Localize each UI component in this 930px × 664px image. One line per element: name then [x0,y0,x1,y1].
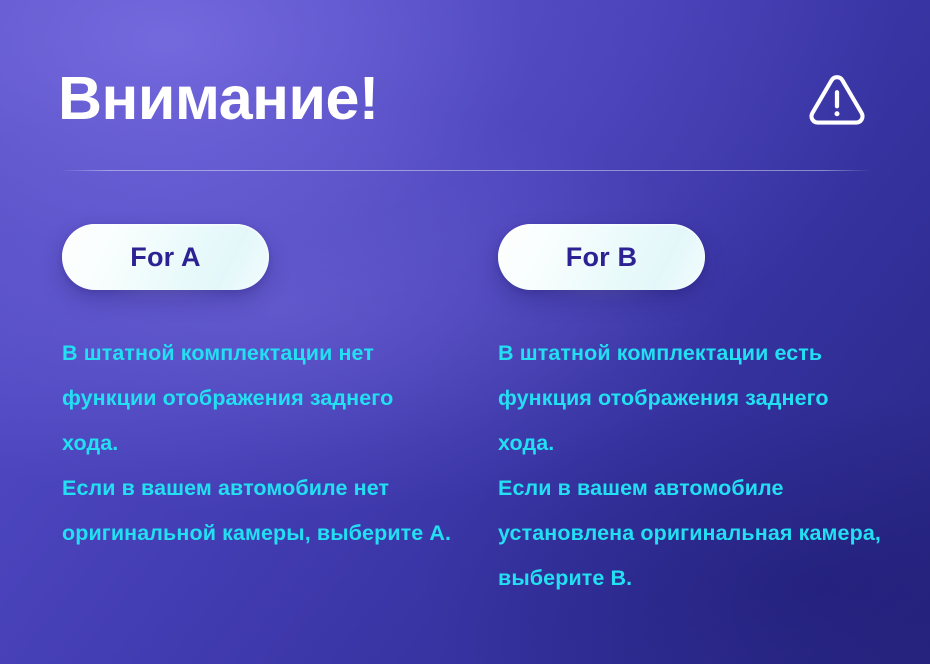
page-title: Внимание! [58,68,379,129]
slide-content: Внимание! For A [0,0,930,664]
for-b-button[interactable]: For B [498,224,705,290]
column-a-text: В штатной комплектации нет функции отобр… [62,331,454,556]
column-b: For B В штатной комплектации есть функци… [498,214,898,601]
column-a-paragraph-1: В штатной комплектации нет функции отобр… [62,331,454,466]
column-a-paragraph-2: Если в вашем автомобиле нет оригинальной… [62,466,454,556]
column-b-text: В штатной комплектации есть функция отоб… [498,331,890,601]
column-b-paragraph-1: В штатной комплектации есть функция отоб… [498,331,890,466]
column-b-paragraph-2: Если в вашем автомобиле установлена ориг… [498,466,890,601]
slide-background: Внимание! For A [0,0,930,664]
for-a-button-wrap: For A [62,214,269,280]
header: Внимание! [58,52,872,144]
warning-triangle-icon [806,68,868,130]
for-a-button[interactable]: For A [62,224,269,290]
header-divider [60,170,872,171]
for-b-button-label: For B [566,242,638,273]
for-b-button-wrap: For B [498,214,705,280]
column-a: For A В штатной комплектации нет функции… [62,214,462,556]
for-a-button-label: For A [130,242,201,273]
